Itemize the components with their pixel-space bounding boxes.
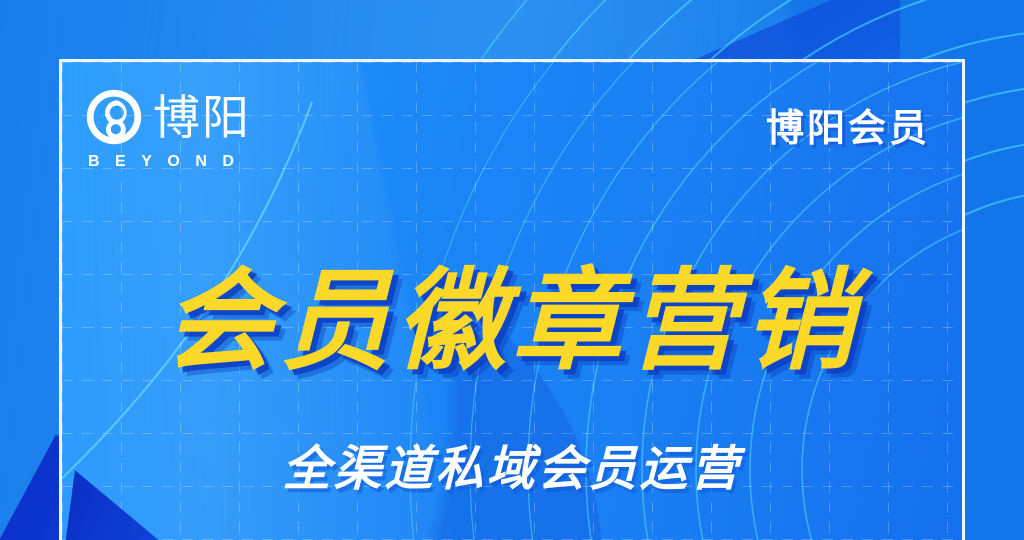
beyond-circle-logo-icon	[85, 88, 143, 146]
corner-tag: 博阳会员	[766, 110, 930, 148]
brand-name-en: BEYOND	[88, 154, 249, 170]
brand-lockup: 博阳 BEYOND	[85, 88, 251, 170]
page-subtitle: 全渠道私域会员运营	[62, 446, 962, 494]
brand-row: 博阳	[85, 88, 251, 146]
poster-content: 博阳 BEYOND 博阳会员 会员徽章营销 全渠道私域会员运营	[62, 62, 962, 540]
brand-name-cn: 博阳	[153, 94, 251, 141]
page-title: 会员徽章营销	[62, 267, 962, 377]
poster-frame: 博阳 BEYOND 博阳会员 会员徽章营销 全渠道私域会员运营	[59, 59, 965, 540]
poster-banner: 博阳 BEYOND 博阳会员 会员徽章营销 全渠道私域会员运营	[0, 0, 1024, 540]
